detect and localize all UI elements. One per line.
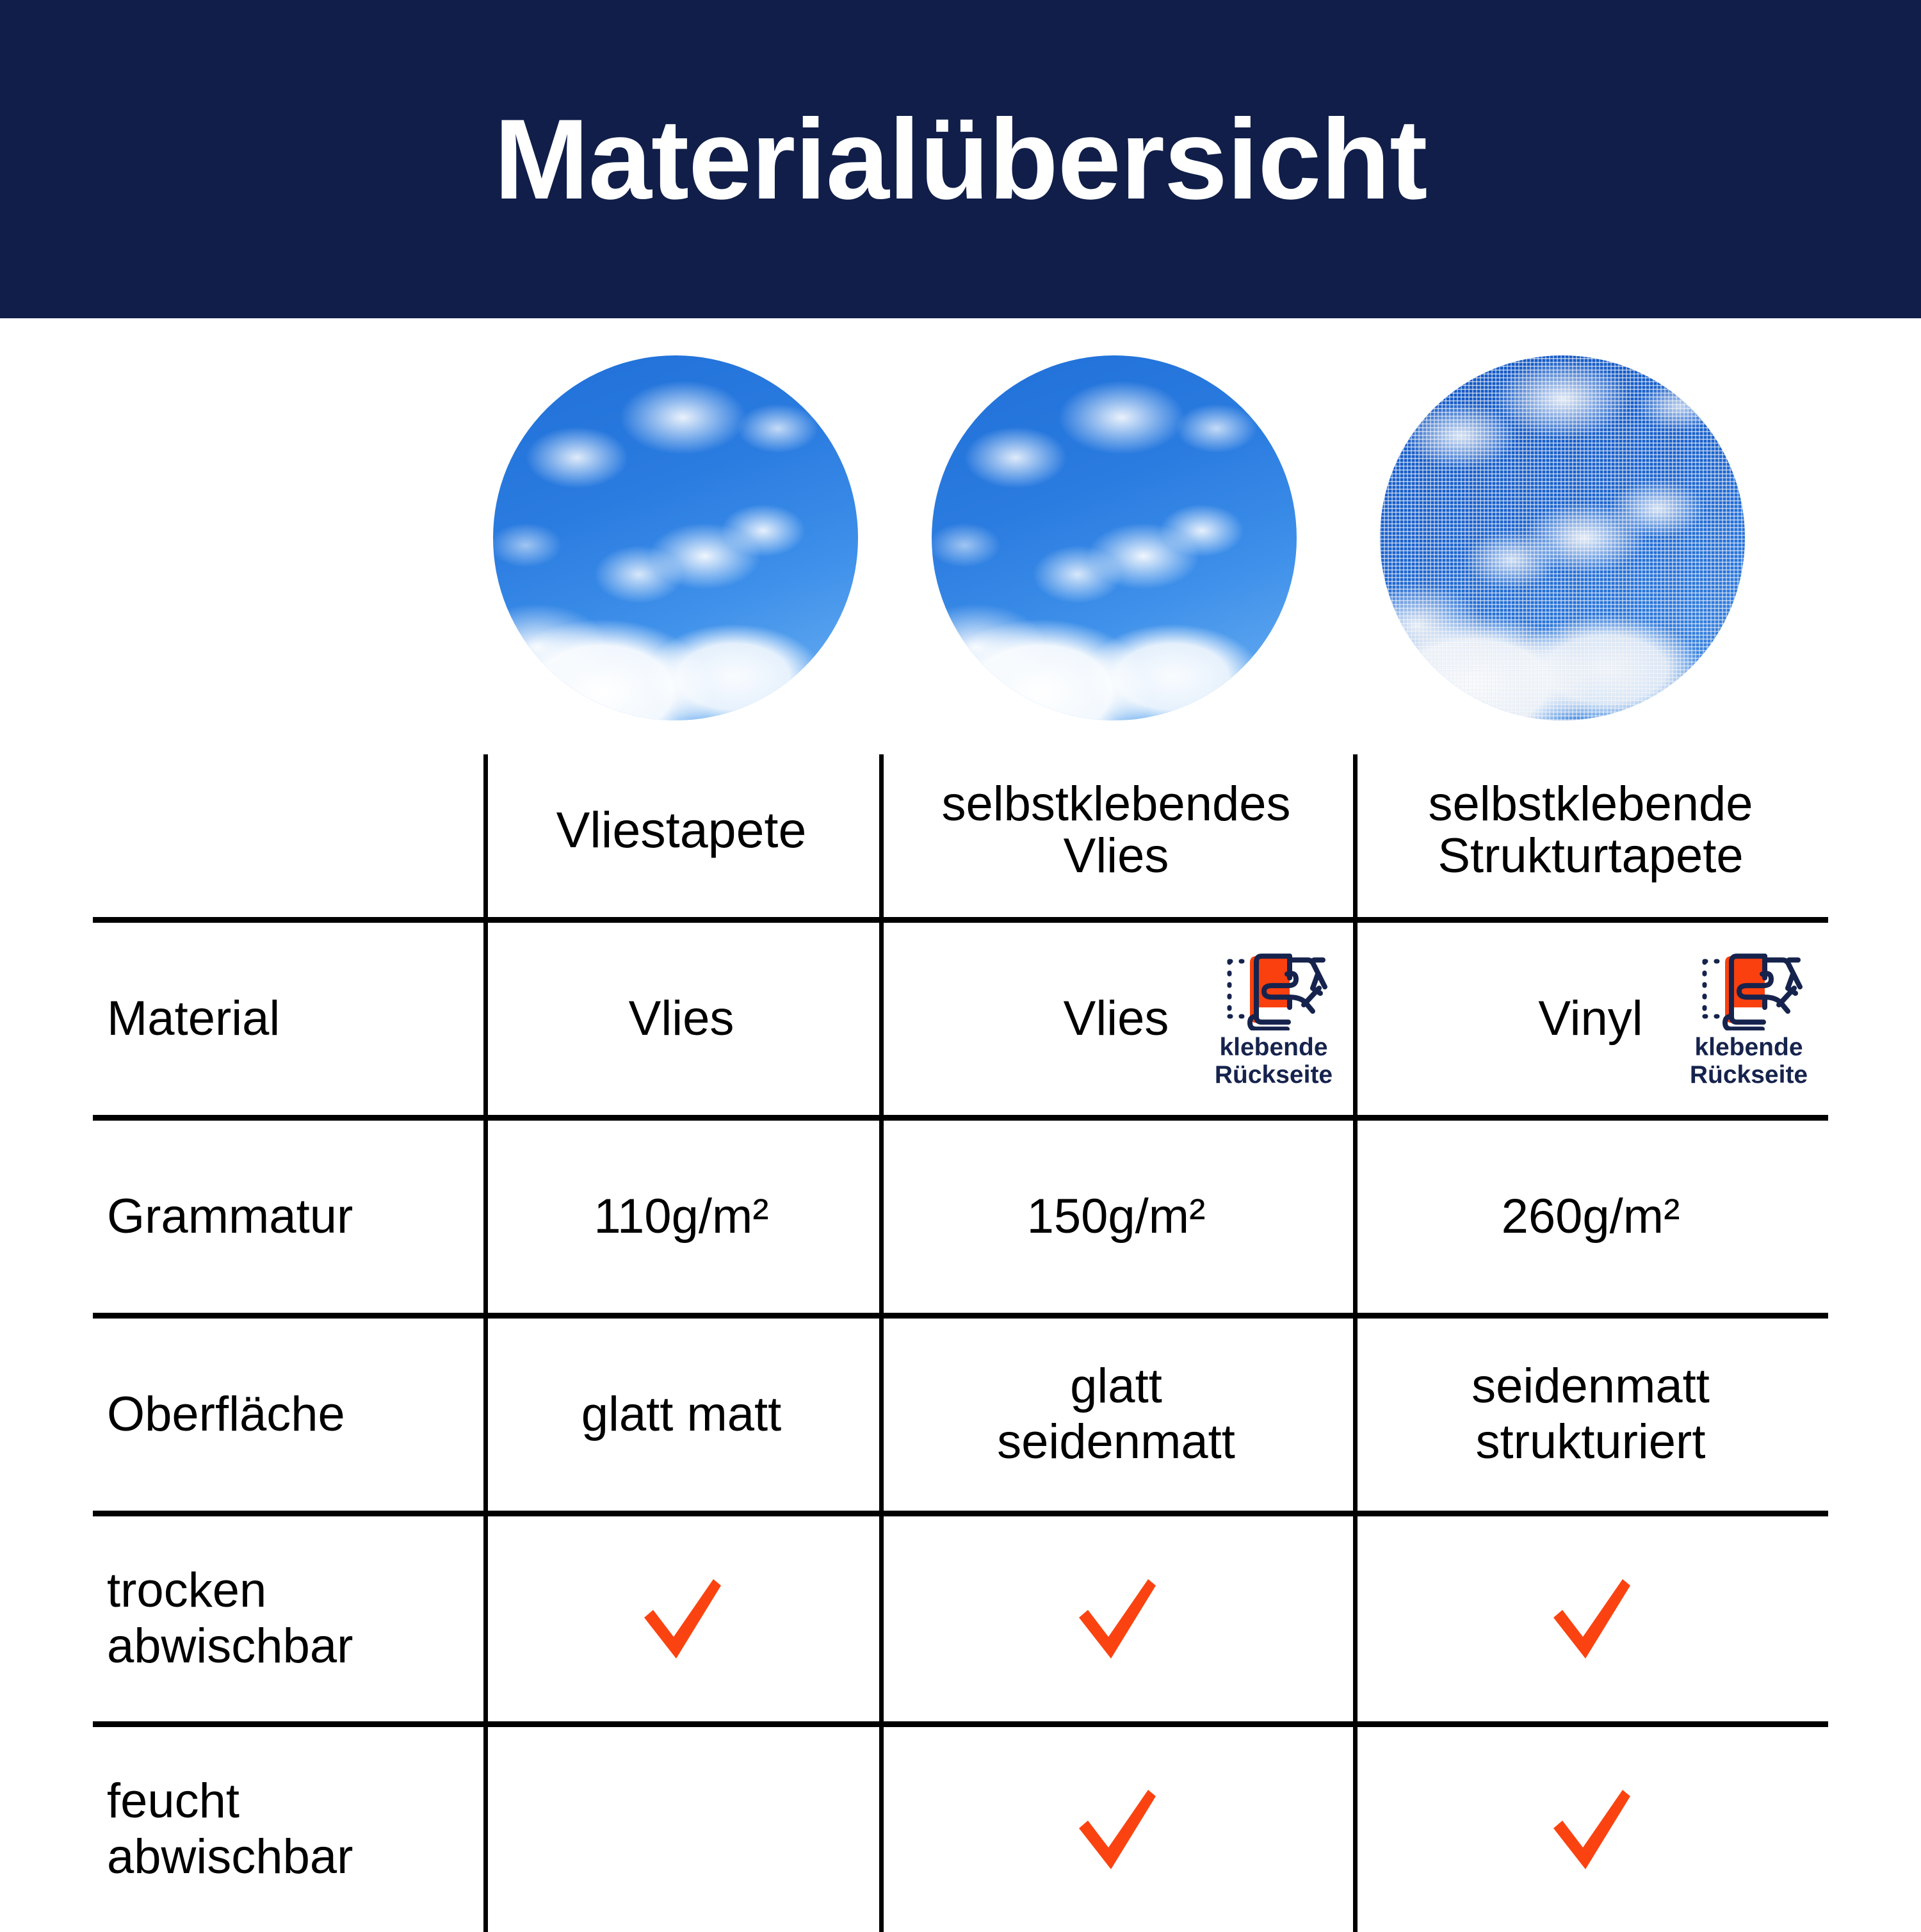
column-header-selbstklebende-strukturtapete: selbstklebende Strukturtapete [1353,743,1828,917]
row-label: Grammatur [107,1189,353,1245]
cell-grammatur-selbstklebendes-vlies: 150g/m² [879,1121,1353,1313]
cell-material-selbstklebendes-vlies: Vlies [879,923,1353,1115]
cell-value: 150g/m² [1027,1189,1206,1245]
row-label: trocken abwischbar [107,1563,353,1674]
page-title: Materialübersicht [494,102,1427,216]
cell-value: Vlies [629,991,734,1047]
table-header-row: Vliestapete selbstklebendes Vlies selbst… [93,743,1828,923]
peel-adhesive-backing-icon [1692,948,1806,1030]
page-header: Materialübersicht [0,0,1921,318]
cell-grammatur-selbstklebende-strukturtapete: 260g/m² [1353,1121,1828,1313]
table-row-grammatur: Grammatur 110g/m² 150g/m² 260g/m² [93,1121,1828,1319]
material-comparison-table: Vliestapete selbstklebendes Vlies selbst… [93,743,1828,1932]
cell-material-vliestapete: Vlies [483,923,879,1115]
cell-trocken-selbstklebendes-vlies [879,1516,1353,1721]
cell-trocken-vliestapete [483,1516,879,1721]
cell-feucht-vliestapete [483,1727,879,1932]
table-row-trocken-abwischbar: trocken abwischbar [93,1516,1828,1727]
swatch-selbstklebende-strukturtapete [1380,355,1745,720]
badge-label: klebende Rückseite [1215,1034,1333,1089]
cell-feucht-selbstklebende-strukturtapete [1353,1727,1828,1932]
cell-value: glatt seidenmatt [997,1359,1235,1470]
cell-oberflaeche-vliestapete: glatt matt [483,1319,879,1511]
cell-feucht-selbstklebendes-vlies [879,1727,1353,1932]
check-icon [1069,1789,1163,1871]
row-label-cell: feucht abwischbar [93,1727,483,1932]
cell-value: Vlies [1064,991,1169,1047]
table-corner-cell [93,743,483,917]
fabric-texture-overlay [1380,355,1745,720]
column-header-selbstklebendes-vlies: selbstklebendes Vlies [879,743,1353,917]
cell-value: glatt matt [581,1387,782,1443]
cell-value: 260g/m² [1502,1189,1680,1245]
check-icon [1543,1789,1638,1871]
cell-trocken-selbstklebende-strukturtapete [1353,1516,1828,1721]
table-row-material: Material Vlies Vlies [93,923,1828,1121]
row-label: feucht abwischbar [107,1774,353,1885]
row-label: Oberfläche [107,1387,345,1443]
swatch-vliestapete [493,355,858,720]
sky-image [493,355,858,720]
klebende-rueckseite-badge: klebende Rückseite [1686,948,1812,1089]
column-header-label: selbstklebende Strukturtapete [1367,778,1814,882]
check-icon [1069,1578,1163,1660]
cell-value: 110g/m² [594,1189,768,1245]
row-label-cell: trocken abwischbar [93,1516,483,1721]
table-row-feucht-abwischbar: feucht abwischbar [93,1727,1828,1932]
table-row-oberflaeche: Oberfläche glatt matt glatt seidenmatt s… [93,1319,1828,1516]
cell-grammatur-vliestapete: 110g/m² [483,1121,879,1313]
column-header-label: Vliestapete [556,803,807,857]
row-label: Material [107,991,280,1047]
no-check-placeholder [634,1789,729,1871]
cell-oberflaeche-selbstklebende-strukturtapete: seidenmatt strukturiert [1353,1319,1828,1511]
cell-oberflaeche-selbstklebendes-vlies: glatt seidenmatt [879,1319,1353,1511]
column-header-label: selbstklebendes Vlies [893,778,1339,882]
check-icon [1543,1578,1638,1660]
column-header-vliestapete: Vliestapete [483,743,879,917]
row-label-cell: Oberfläche [93,1319,483,1511]
row-label-cell: Material [93,923,483,1115]
badge-label: klebende Rückseite [1690,1034,1808,1089]
klebende-rueckseite-badge: klebende Rückseite [1211,948,1336,1089]
row-label-cell: Grammatur [93,1121,483,1313]
cell-value: Vinyl [1538,991,1642,1047]
sky-image [932,355,1297,720]
swatch-selbstklebendes-vlies [932,355,1297,720]
cell-value: seidenmatt strukturiert [1471,1359,1710,1470]
material-swatch-row [0,355,1921,740]
cell-material-selbstklebende-strukturtapete: Vinyl [1353,923,1828,1115]
peel-adhesive-backing-icon [1217,948,1331,1030]
check-icon [634,1578,729,1660]
